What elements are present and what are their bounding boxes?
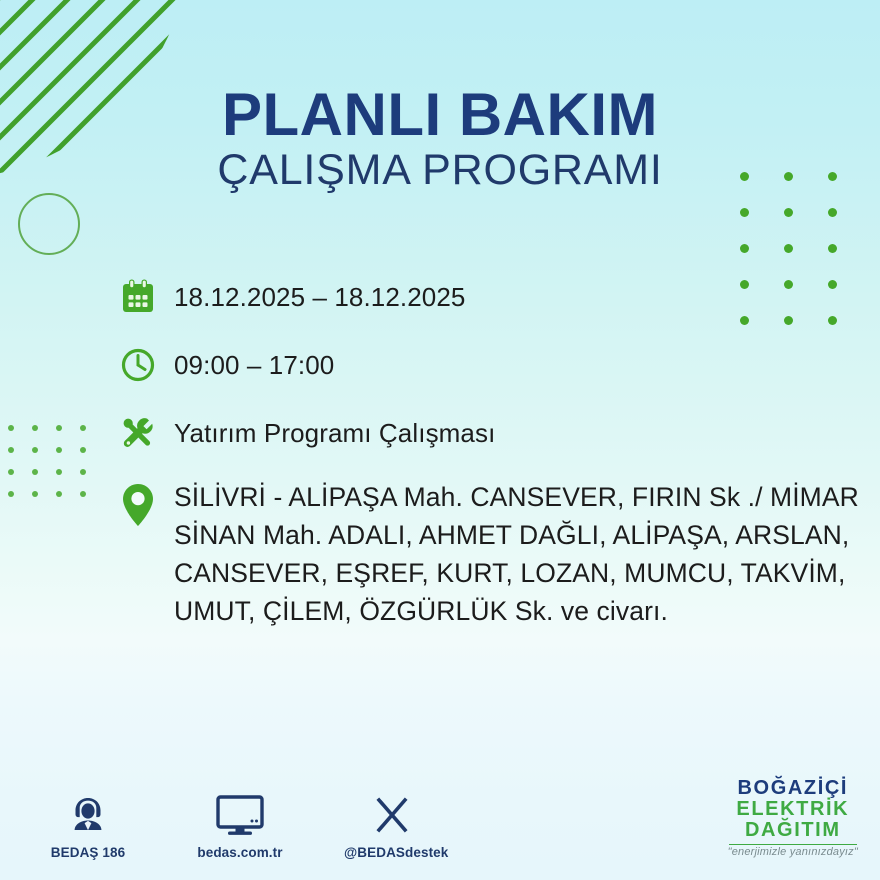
page-title: PLANLI BAKIM ÇALIŞMA PROGRAMI xyxy=(0,84,880,194)
detail-row-location: SİLİVRİ - ALİPAŞA Mah. CANSEVER, FIRIN S… xyxy=(118,476,878,630)
contact-twitter-label: @BEDASdestek xyxy=(344,845,440,860)
location-value: SİLİVRİ - ALİPAŞA Mah. CANSEVER, FIRIN S… xyxy=(174,476,859,630)
time-range-value: 09:00 – 17:00 xyxy=(174,340,334,384)
title-sub-line: ÇALIŞMA PROGRAMI xyxy=(0,147,880,194)
brand-tagline: "enerjimizle yanınızdayız" xyxy=(728,847,858,858)
detail-row-time: 09:00 – 17:00 xyxy=(118,340,878,390)
location-pin-icon xyxy=(118,476,174,530)
planned-maintenance-poster: PLANLI BAKIM ÇALIŞMA PROGRAMI xyxy=(0,0,880,880)
brand-line-3: DAĞITIM xyxy=(728,820,858,841)
x-twitter-icon xyxy=(344,786,440,838)
brand-line-1: BOĞAZİÇİ xyxy=(728,778,858,799)
contact-phone-label: BEDAŞ 186 xyxy=(40,845,136,860)
detail-row-date: 18.12.2025 – 18.12.2025 xyxy=(118,272,878,322)
detail-row-work-type: Yatırım Programı Çalışması xyxy=(118,408,878,458)
circle-outline-decoration xyxy=(18,193,80,255)
location-line: SİNAN Mah. ADALI, AHMET DAĞLI, ALİPAŞA, … xyxy=(174,520,849,550)
tools-icon xyxy=(118,408,174,458)
calendar-icon xyxy=(118,272,174,322)
work-type-value: Yatırım Programı Çalışması xyxy=(174,408,495,452)
location-line: UMUT, ÇİLEM, ÖZGÜRLÜK Sk. ve civarı. xyxy=(174,596,668,626)
title-main-line: PLANLI BAKIM xyxy=(0,84,880,145)
contact-phone[interactable]: BEDAŞ 186 xyxy=(40,786,136,860)
dot-grid-left-decoration xyxy=(8,425,104,513)
footer-contacts: BEDAŞ 186 bedas.com.tr xyxy=(40,786,440,860)
headset-agent-icon xyxy=(40,786,136,838)
contact-website[interactable]: bedas.com.tr xyxy=(192,786,288,860)
contact-twitter[interactable]: @BEDASdestek xyxy=(344,786,440,860)
location-line: SİLİVRİ - ALİPAŞA Mah. CANSEVER, FIRIN S… xyxy=(174,482,859,512)
monitor-icon xyxy=(192,786,288,838)
brand-divider xyxy=(729,844,857,845)
brand-line-2: ELEKTRİK xyxy=(728,799,858,820)
location-line: CANSEVER, EŞREF, KURT, LOZAN, MUMCU, TAK… xyxy=(174,558,845,588)
brand-logo: BOĞAZİÇİ ELEKTRİK DAĞITIM "enerjimizle y… xyxy=(728,778,858,858)
clock-icon xyxy=(118,340,174,390)
date-range-value: 18.12.2025 – 18.12.2025 xyxy=(174,272,465,316)
maintenance-details: 18.12.2025 – 18.12.2025 09:00 – 17:00 xyxy=(118,272,878,630)
contact-website-label: bedas.com.tr xyxy=(192,845,288,860)
